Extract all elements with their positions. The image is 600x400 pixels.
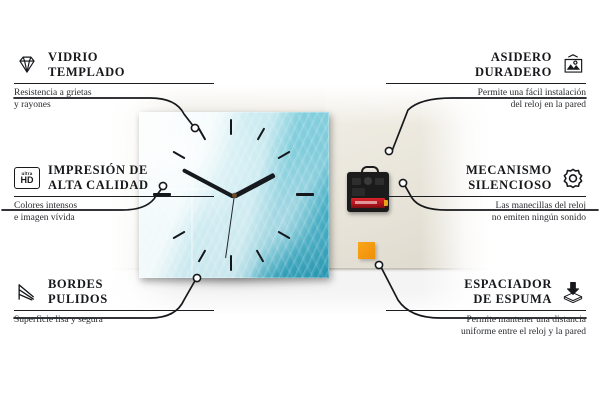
feature-desc-line1: Permite mantener una distancia: [386, 315, 586, 327]
feature-desc-line2: no emiten ningún sonido: [386, 213, 586, 225]
feature-divider: [14, 310, 214, 311]
feature-description: Superficie lisa y segura: [14, 315, 214, 327]
feature-title-line2: ALTA CALIDAD: [48, 178, 149, 193]
feature-title-line2: DE ESPUMA: [464, 292, 552, 307]
ultra-hd-icon: ultra HD: [14, 167, 40, 189]
feature-bordes-pulidos[interactable]: BORDES PULIDOS Superficie lisa y segura: [14, 277, 214, 327]
feature-description: Resistencia a grietas y rayones: [14, 88, 214, 111]
feature-description: Permite mantener una distancia uniforme …: [386, 315, 586, 338]
feature-desc-line2: e imagen vívida: [14, 213, 214, 225]
feature-title-line1: BORDES: [48, 277, 108, 292]
feature-description: Colores intensos e imagen vívida: [14, 201, 214, 224]
feature-divider: [386, 310, 586, 311]
feature-title: IMPRESIÓN DE ALTA CALIDAD: [48, 163, 149, 192]
feature-divider: [386, 83, 586, 84]
feature-title-line1: ASIDERO: [475, 50, 552, 65]
feature-desc-line2: del reloj en la pared: [386, 100, 586, 112]
feature-desc-line1: Resistencia a grietas: [14, 88, 214, 100]
connector-dot-espaciador: [375, 261, 382, 268]
feature-description: Las manecillas del reloj no emiten ningú…: [386, 201, 586, 224]
feature-title: VIDRIO TEMPLADO: [48, 50, 125, 79]
hanging-frame-icon: [560, 54, 586, 76]
feature-desc-line2: uniforme entre el reloj y la pared: [386, 327, 586, 339]
feature-desc-line1: Superficie lisa y segura: [14, 315, 214, 327]
press-down-icon: [560, 281, 586, 303]
ultra-hd-icon-main-text: HD: [21, 176, 34, 185]
diamond-icon: [14, 54, 40, 76]
infographic-canvas: VIDRIO TEMPLADO Resistencia a grietas y …: [0, 0, 600, 400]
feature-title-line2: PULIDOS: [48, 292, 108, 307]
feature-description: Permite una fácil instalación del reloj …: [386, 88, 586, 111]
feature-title-line1: IMPRESIÓN DE: [48, 163, 149, 178]
feature-desc-line1: Colores intensos: [14, 201, 214, 213]
connector-dot-vidrio: [191, 124, 198, 131]
feature-title-line1: VIDRIO: [48, 50, 125, 65]
feature-desc-line2: y rayones: [14, 100, 214, 112]
diagonal-lines-icon: [14, 281, 40, 303]
feature-divider: [14, 83, 214, 84]
feature-title-line2: SILENCIOSO: [466, 178, 552, 193]
feature-impresion-alta-calidad[interactable]: ultra HD IMPRESIÓN DE ALTA CALIDAD Color…: [14, 163, 214, 224]
gear-icon: [560, 167, 586, 189]
feature-divider: [14, 196, 214, 197]
feature-title: ESPACIADOR DE ESPUMA: [464, 277, 552, 306]
feature-desc-line1: Permite una fácil instalación: [386, 88, 586, 100]
feature-divider: [386, 196, 586, 197]
feature-title-line2: DURADERO: [475, 65, 552, 80]
feature-vidrio-templado[interactable]: VIDRIO TEMPLADO Resistencia a grietas y …: [14, 50, 214, 111]
feature-asidero-duradero[interactable]: ASIDERO DURADERO Permite una fácil insta…: [386, 50, 586, 111]
feature-title-line2: TEMPLADO: [48, 65, 125, 80]
feature-desc-line1: Las manecillas del reloj: [386, 201, 586, 213]
feature-espaciador-de-espuma[interactable]: ESPACIADOR DE ESPUMA Permite mantener un…: [386, 277, 586, 338]
feature-title-line1: MECANISMO: [466, 163, 552, 178]
feature-mecanismo-silencioso[interactable]: MECANISMO SILENCIOSO Las manecillas del …: [386, 163, 586, 224]
feature-title-line1: ESPACIADOR: [464, 277, 552, 292]
feature-title: MECANISMO SILENCIOSO: [466, 163, 552, 192]
feature-title: ASIDERO DURADERO: [475, 50, 552, 79]
connector-dot-asidero: [385, 147, 392, 154]
feature-title: BORDES PULIDOS: [48, 277, 108, 306]
